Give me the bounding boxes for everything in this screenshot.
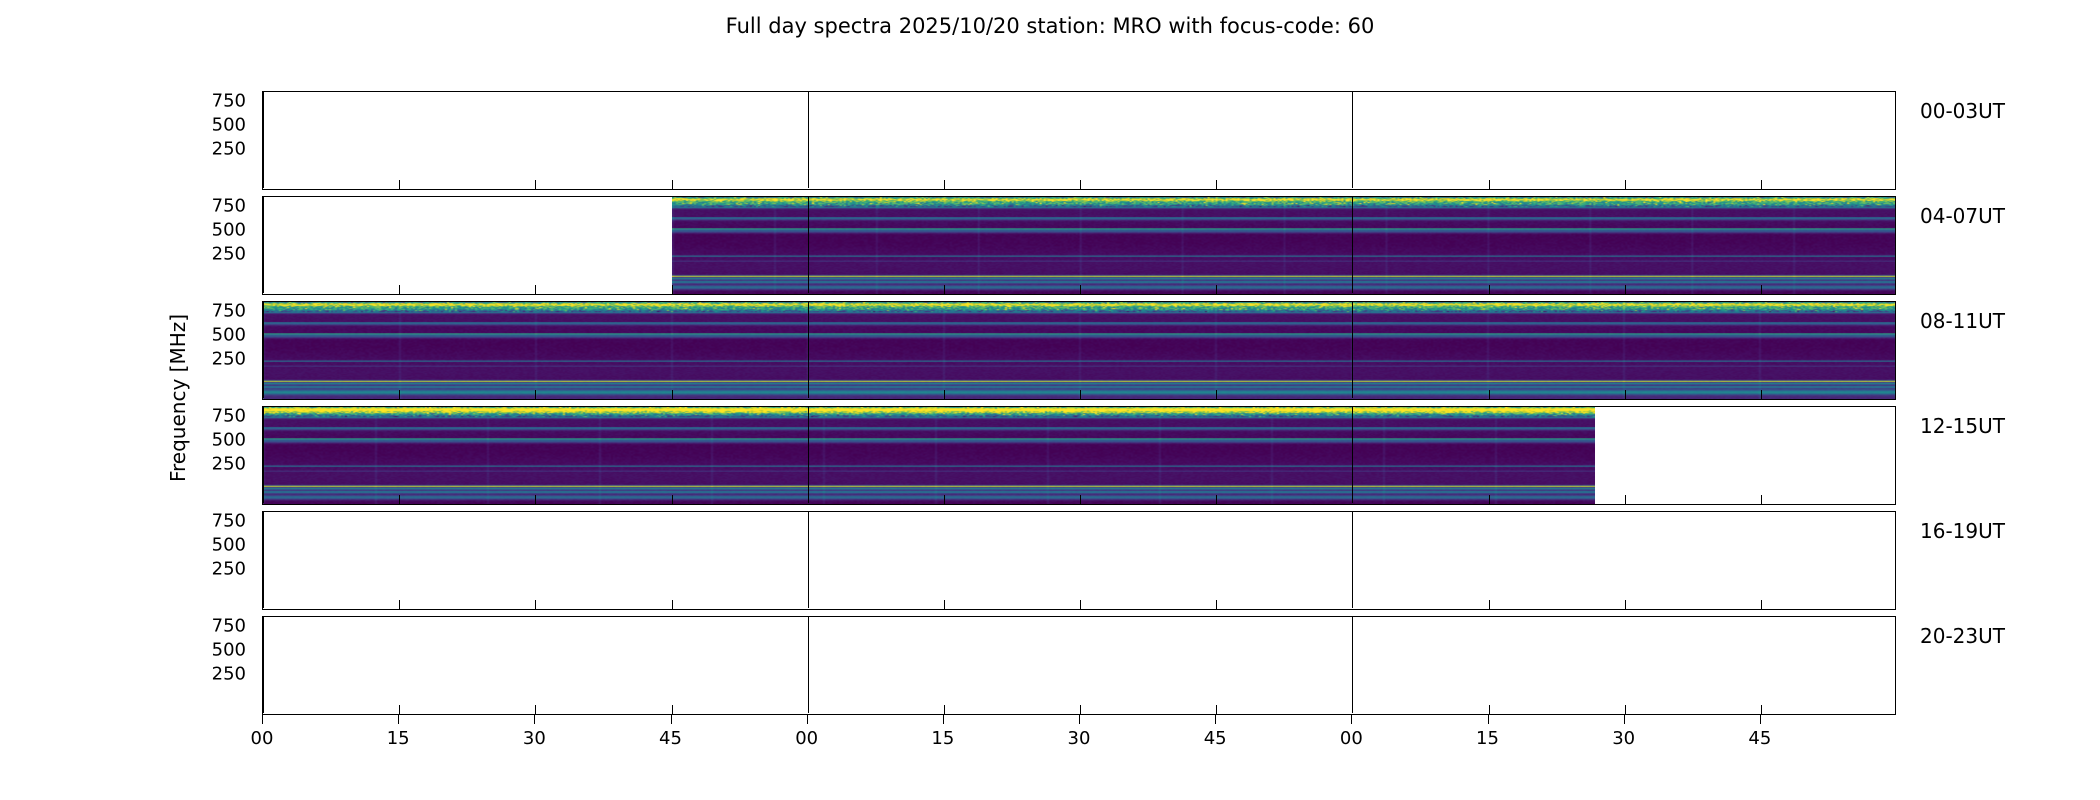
x-axis-tick [263, 302, 264, 398]
y-axis-tick-label: 750 [176, 616, 246, 637]
spectrogram-panel-08-11ut[interactable] [262, 301, 1896, 400]
row-label-16-19ut: 16-19UT [1920, 519, 2005, 543]
x-axis-tick-bottom [262, 715, 263, 724]
x-axis-tick [1761, 705, 1762, 714]
x-axis-tick-label: 45 [1748, 728, 1771, 749]
x-axis-tick [263, 617, 264, 713]
x-axis-tick [1489, 600, 1490, 609]
spectrogram-figure: Full day spectra 2025/10/20 station: MRO… [0, 0, 2100, 800]
x-axis-tick-bottom [943, 715, 944, 724]
x-axis-tick-label: 45 [1204, 728, 1227, 749]
x-axis-tick [808, 302, 809, 398]
x-axis-tick [1489, 285, 1490, 294]
x-axis-tick [672, 495, 673, 504]
x-axis-tick [944, 705, 945, 714]
x-axis-tick [1080, 600, 1081, 609]
x-axis-tick [399, 495, 400, 504]
x-axis-tick-bottom [807, 715, 808, 724]
x-axis-tick [399, 705, 400, 714]
spectrogram-panel-12-15ut[interactable] [262, 406, 1896, 505]
spectrogram-data [672, 197, 1897, 294]
x-axis-tick [1080, 390, 1081, 399]
x-axis-tick-label: 15 [387, 728, 410, 749]
x-axis-tick-bottom [1624, 715, 1625, 724]
x-axis-tick [1216, 495, 1217, 504]
spectrogram-canvas [672, 197, 1897, 294]
y-axis-tick-label: 250 [176, 243, 246, 264]
x-axis-tick [263, 92, 264, 188]
y-axis-tick-label: 250 [176, 663, 246, 684]
x-axis-tick [535, 705, 536, 714]
x-axis-tick [944, 390, 945, 399]
spectrogram-data [263, 407, 1595, 504]
x-axis-tick [1216, 285, 1217, 294]
y-axis-tick-label: 250 [176, 558, 246, 579]
spectrogram-canvas [263, 407, 1595, 504]
x-axis-tick [1761, 600, 1762, 609]
x-axis-tick [944, 180, 945, 189]
x-axis-tick [1761, 285, 1762, 294]
x-axis-tick [808, 197, 809, 293]
x-axis-tick [263, 512, 264, 608]
x-axis-tick [672, 285, 673, 294]
x-axis-tick [1625, 705, 1626, 714]
y-axis-tick-label: 750 [176, 91, 246, 112]
x-axis-tick [672, 705, 673, 714]
x-axis-tick [1489, 705, 1490, 714]
x-axis-tick [1080, 285, 1081, 294]
x-axis-tick-bottom [534, 715, 535, 724]
x-axis-tick [1080, 180, 1081, 189]
x-axis-tick [1625, 285, 1626, 294]
x-axis-tick [1761, 180, 1762, 189]
x-axis-tick-label: 00 [251, 728, 274, 749]
x-axis-tick [944, 285, 945, 294]
x-axis-tick [399, 285, 400, 294]
x-axis-tick [1761, 390, 1762, 399]
x-axis-tick [1352, 197, 1353, 293]
x-axis-tick [672, 180, 673, 189]
spectrogram-panel-16-19ut[interactable] [262, 511, 1896, 610]
x-axis-tick [263, 197, 264, 293]
x-axis-tick [944, 600, 945, 609]
x-axis-tick [1625, 390, 1626, 399]
y-axis-tick-label: 500 [176, 325, 246, 346]
x-axis-tick [535, 600, 536, 609]
x-axis-tick-label: 30 [1068, 728, 1091, 749]
x-axis-tick [808, 92, 809, 188]
x-axis-tick-label: 45 [659, 728, 682, 749]
x-axis-tick [1352, 407, 1353, 503]
row-label-20-23ut: 20-23UT [1920, 624, 2005, 648]
x-axis-tick [1080, 705, 1081, 714]
x-axis-tick [672, 600, 673, 609]
x-axis-tick [808, 617, 809, 713]
x-axis-tick [1352, 302, 1353, 398]
x-axis-tick [399, 390, 400, 399]
x-axis-tick-bottom [398, 715, 399, 724]
x-axis-tick-bottom [1079, 715, 1080, 724]
row-label-04-07ut: 04-07UT [1920, 204, 2005, 228]
y-axis-tick-label: 750 [176, 511, 246, 532]
y-axis-tick-label: 750 [176, 196, 246, 217]
y-axis-tick-label: 500 [176, 220, 246, 241]
x-axis-tick [263, 407, 264, 503]
y-axis-tick-label: 250 [176, 348, 246, 369]
spectrogram-panel-04-07ut[interactable] [262, 196, 1896, 295]
spectrogram-canvas [263, 302, 1896, 399]
x-axis-tick [1625, 180, 1626, 189]
row-label-00-03ut: 00-03UT [1920, 99, 2005, 123]
spectrogram-data [263, 302, 1896, 399]
y-axis-tick-label: 500 [176, 640, 246, 661]
x-axis-tick [1080, 495, 1081, 504]
x-axis-tick [1352, 92, 1353, 188]
x-axis-tick-bottom [1351, 715, 1352, 724]
x-axis-tick [944, 495, 945, 504]
x-axis-tick [535, 390, 536, 399]
y-axis-tick-label: 750 [176, 301, 246, 322]
x-axis-tick [1761, 495, 1762, 504]
x-axis-tick [808, 512, 809, 608]
x-axis-tick [1489, 495, 1490, 504]
y-axis-tick-label: 250 [176, 138, 246, 159]
x-axis-tick [535, 495, 536, 504]
x-axis-tick [1216, 390, 1217, 399]
y-axis-tick-label: 250 [176, 453, 246, 474]
spectrogram-panel-00-03ut[interactable] [262, 91, 1896, 190]
x-axis-tick-label: 15 [1476, 728, 1499, 749]
x-axis-tick-label: 00 [795, 728, 818, 749]
x-axis-tick [399, 180, 400, 189]
x-axis-tick [1625, 495, 1626, 504]
x-axis-tick [1625, 600, 1626, 609]
x-axis-tick-bottom [1215, 715, 1216, 724]
row-label-08-11ut: 08-11UT [1920, 309, 2005, 333]
x-axis-tick [808, 407, 809, 503]
y-axis-tick-label: 750 [176, 406, 246, 427]
x-axis-tick [1489, 390, 1490, 399]
x-axis-tick-bottom [1488, 715, 1489, 724]
page-title: Full day spectra 2025/10/20 station: MRO… [0, 14, 2100, 38]
x-axis-tick [535, 285, 536, 294]
x-axis-tick [399, 600, 400, 609]
x-axis-tick-label: 30 [523, 728, 546, 749]
spectrogram-panel-20-23ut[interactable] [262, 616, 1896, 715]
x-axis-tick [672, 390, 673, 399]
x-axis-tick [1216, 705, 1217, 714]
x-axis-tick-label: 15 [931, 728, 954, 749]
y-axis-tick-label: 500 [176, 115, 246, 136]
x-axis-tick-bottom [1760, 715, 1761, 724]
x-axis-tick [535, 180, 536, 189]
x-axis-tick [1216, 600, 1217, 609]
y-axis-tick-label: 500 [176, 535, 246, 556]
x-axis-tick-label: 00 [1340, 728, 1363, 749]
x-axis-tick [1489, 180, 1490, 189]
y-axis-tick-label: 500 [176, 430, 246, 451]
x-axis-tick [1352, 617, 1353, 713]
x-axis-tick [1216, 180, 1217, 189]
x-axis-tick [1352, 512, 1353, 608]
x-axis-tick-label: 30 [1612, 728, 1635, 749]
row-label-12-15ut: 12-15UT [1920, 414, 2005, 438]
x-axis-tick-bottom [671, 715, 672, 724]
